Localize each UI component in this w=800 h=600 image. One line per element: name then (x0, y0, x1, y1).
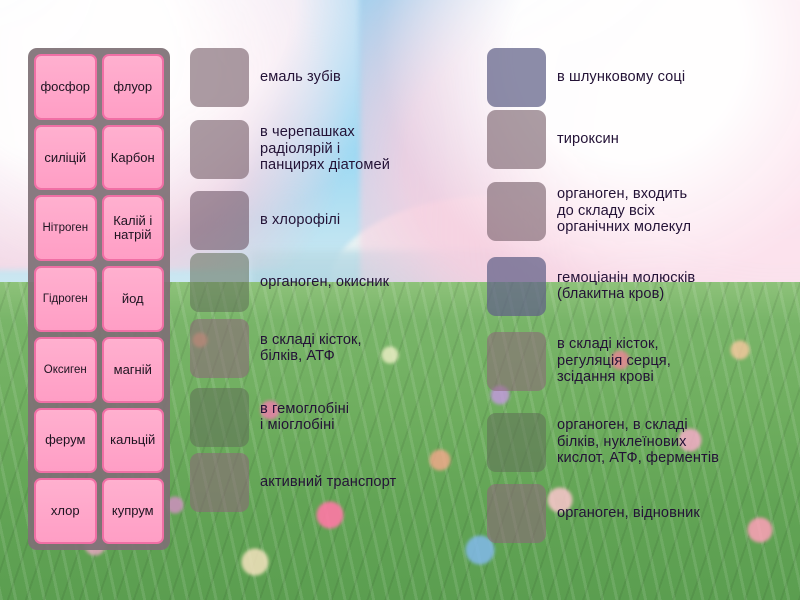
drop-target-slot[interactable] (190, 319, 249, 378)
definition-column-left: емаль зубівв черепашках радіолярій і пан… (190, 48, 495, 515)
word-tile[interactable]: Оксиген (34, 337, 97, 403)
drop-target-slot[interactable] (487, 413, 546, 472)
word-tile[interactable]: Калій і натрій (102, 195, 165, 261)
drop-target-slot[interactable] (487, 182, 546, 241)
definition-row[interactable]: органоген, відновник (487, 484, 792, 543)
definition-row[interactable]: гемоціанін молюсків (блакитна кров) (487, 253, 792, 319)
drop-target-slot[interactable] (487, 332, 546, 391)
definition-label: в складі кісток, білків, АТФ (260, 332, 362, 365)
definition-label: органоген, в складі білків, нуклеїнових … (557, 417, 719, 466)
drop-target-slot[interactable] (190, 453, 249, 512)
word-tile[interactable]: магній (102, 337, 165, 403)
drop-target-slot[interactable] (190, 191, 249, 250)
definition-label: органоген, входить до складу всіх органі… (557, 186, 691, 235)
drop-target-slot[interactable] (487, 257, 546, 316)
definition-label: органоген, відновник (557, 505, 700, 521)
definition-label: в гемоглобіні і міоглобіні (260, 401, 349, 434)
drop-target-slot[interactable] (487, 110, 546, 169)
word-tile[interactable]: кальцій (102, 408, 165, 474)
drop-target-slot[interactable] (190, 388, 249, 447)
definition-row[interactable]: органоген, входить до складу всіх органі… (487, 172, 792, 250)
definition-row[interactable]: в складі кісток, регуляція серця, зсідан… (487, 322, 792, 400)
definition-label: в шлунковому соці (557, 69, 685, 85)
definition-row[interactable]: органоген, окисник (190, 253, 495, 312)
word-tile[interactable]: хлор (34, 478, 97, 544)
definition-label: органоген, окисник (260, 274, 389, 290)
definition-row[interactable]: активний транспорт (190, 453, 495, 512)
definition-label: в складі кісток, регуляція серця, зсідан… (557, 336, 671, 385)
definition-row[interactable]: органоген, в складі білків, нуклеїнових … (487, 403, 792, 481)
definition-label: в черепашках радіолярій і панцирях діато… (260, 124, 390, 173)
drop-target-slot[interactable] (190, 48, 249, 107)
definition-row[interactable]: тироксин (487, 110, 792, 169)
definition-label: активний транспорт (260, 474, 396, 490)
definition-row[interactable]: в гемоглобіні і міоглобіні (190, 384, 495, 450)
drop-target-slot[interactable] (190, 253, 249, 312)
drop-target-slot[interactable] (487, 48, 546, 107)
definition-column-right: в шлунковому соцітироксинорганоген, вход… (487, 48, 792, 546)
definition-row[interactable]: емаль зубів (190, 48, 495, 107)
word-tile[interactable]: флуор (102, 54, 165, 120)
word-tile[interactable]: Нітроген (34, 195, 97, 261)
word-tile[interactable]: ферум (34, 408, 97, 474)
definition-label: емаль зубів (260, 69, 341, 85)
definition-row[interactable]: в складі кісток, білків, АТФ (190, 315, 495, 381)
word-tile[interactable]: купрум (102, 478, 165, 544)
drop-target-slot[interactable] (190, 120, 249, 179)
definition-row[interactable]: в черепашках радіолярій і панцирях діато… (190, 110, 495, 188)
draggable-word-tiles[interactable]: фосфорфлуорсиліційКарбонНітрогенКалій і … (28, 48, 170, 550)
definition-row[interactable]: в хлорофілі (190, 191, 495, 250)
definition-label: в хлорофілі (260, 212, 340, 228)
definition-label: тироксин (557, 131, 619, 147)
word-tile[interactable]: Карбон (102, 125, 165, 191)
drop-target-slot[interactable] (487, 484, 546, 543)
word-tile[interactable]: фосфор (34, 54, 97, 120)
definition-label: гемоціанін молюсків (блакитна кров) (557, 270, 695, 303)
definition-row[interactable]: в шлунковому соці (487, 48, 792, 107)
word-tile[interactable]: Гідроген (34, 266, 97, 332)
word-tile[interactable]: йод (102, 266, 165, 332)
word-tile[interactable]: силіцій (34, 125, 97, 191)
